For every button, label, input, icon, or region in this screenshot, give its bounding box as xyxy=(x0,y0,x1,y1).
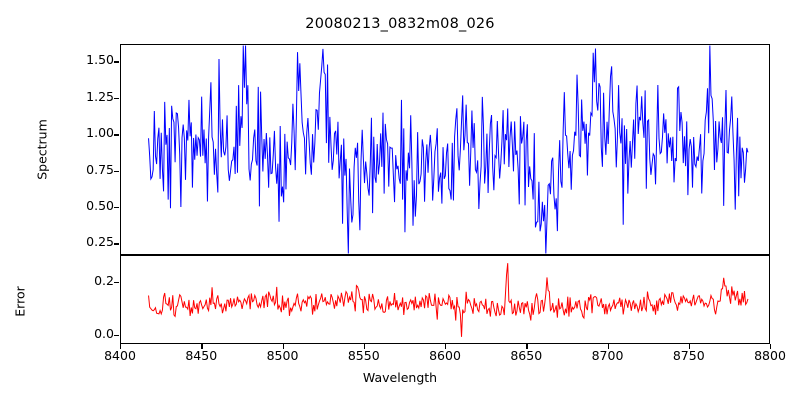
x-tick-mark xyxy=(689,344,690,349)
x-tick-label: 8550 xyxy=(334,348,394,363)
spectrum-figure: 20080213_0832m08_026 Spectrum Error Wave… xyxy=(0,0,800,400)
error-plot-area xyxy=(121,256,769,343)
spectrum-ytick-label: 0.25 xyxy=(70,236,114,249)
x-tick-mark xyxy=(364,344,365,349)
x-tick-label: 8650 xyxy=(496,348,556,363)
x-tick-mark xyxy=(445,344,446,349)
error-ytick-mark xyxy=(114,282,119,283)
spectrum-ytick-label: 0.75 xyxy=(70,164,114,177)
spectrum-ytick-label: 1.25 xyxy=(70,91,114,104)
x-tick-label: 8800 xyxy=(740,348,800,363)
error-ytick-label: 0.2 xyxy=(70,275,114,288)
spectrum-ytick-mark xyxy=(114,98,119,99)
spectrum-panel xyxy=(120,44,770,255)
spectrum-ytick-label: 1.00 xyxy=(70,127,114,140)
spectrum-ytick-mark xyxy=(114,243,119,244)
spectrum-ytick-label: 0.50 xyxy=(70,200,114,213)
spectrum-plot-area xyxy=(121,45,769,254)
x-tick-label: 8700 xyxy=(578,348,638,363)
x-tick-mark xyxy=(120,344,121,349)
x-tick-label: 8400 xyxy=(90,348,150,363)
error-trace xyxy=(149,263,748,337)
x-tick-label: 8450 xyxy=(171,348,231,363)
x-tick-label: 8600 xyxy=(415,348,475,363)
error-ytick-mark xyxy=(114,335,119,336)
x-tick-label: 8750 xyxy=(659,348,719,363)
error-panel xyxy=(120,255,770,344)
spectrum-y-axis-label: Spectrum xyxy=(35,95,50,205)
error-ytick-label: 0.0 xyxy=(70,328,114,341)
spectrum-ytick-mark xyxy=(114,171,119,172)
spectrum-ytick-mark xyxy=(114,61,119,62)
x-tick-mark xyxy=(608,344,609,349)
x-tick-label: 8500 xyxy=(253,348,313,363)
spectrum-ytick-label: 1.50 xyxy=(70,54,114,67)
spectrum-ytick-mark xyxy=(114,134,119,135)
x-tick-mark xyxy=(526,344,527,349)
x-tick-mark xyxy=(201,344,202,349)
spectrum-ytick-mark xyxy=(114,207,119,208)
spectrum-trace xyxy=(149,45,748,253)
x-tick-mark xyxy=(283,344,284,349)
x-axis-label: Wavelength xyxy=(0,370,800,385)
error-y-axis-label: Error xyxy=(13,267,28,337)
page-title: 20080213_0832m08_026 xyxy=(0,16,800,32)
x-tick-mark xyxy=(770,344,771,349)
